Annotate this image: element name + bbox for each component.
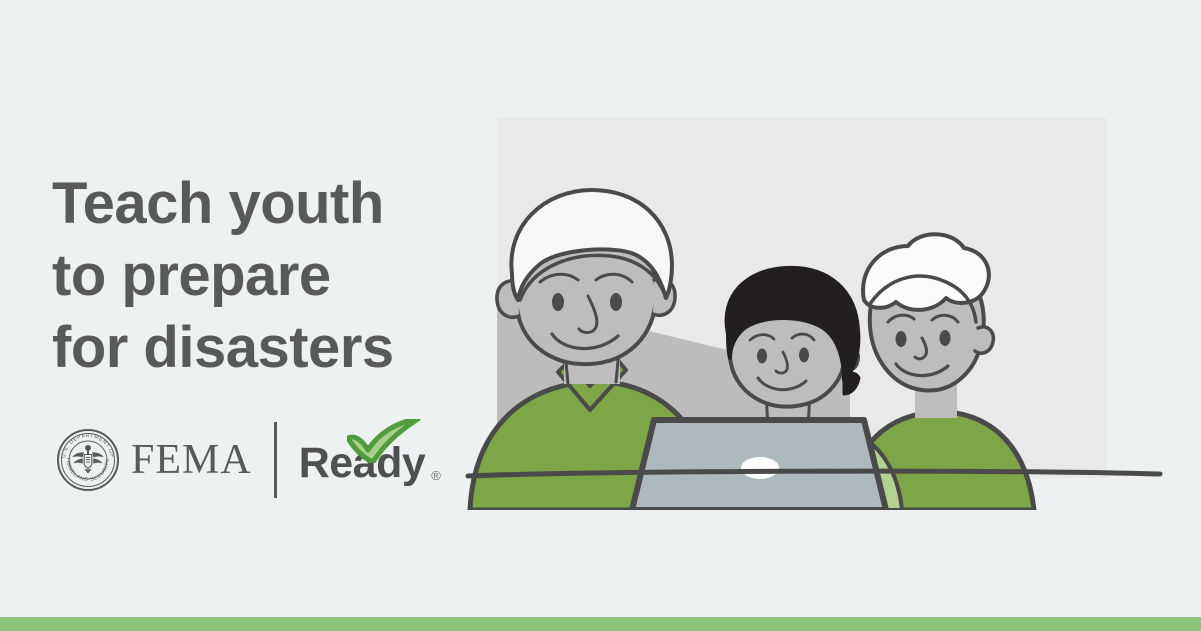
headline-line-1: Teach youth bbox=[52, 168, 472, 240]
headline-line-3: for disasters bbox=[52, 312, 472, 384]
page-title: Teach youth to prepare for disasters bbox=[52, 168, 472, 384]
family-at-laptop-illustration bbox=[440, 90, 1180, 510]
logo-divider bbox=[274, 422, 277, 498]
headline-line-2: to prepare bbox=[52, 240, 472, 312]
bottom-accent-bar bbox=[0, 617, 1201, 631]
laptop-logo-icon bbox=[741, 457, 779, 479]
fema-ready-logo-lockup: U.S. DEPARTMENT OF HOMELAND SECURITY bbox=[56, 421, 441, 499]
ready-checkmark-icon bbox=[347, 419, 427, 463]
poster-canvas: Teach youth to prepare for disasters U.S… bbox=[0, 0, 1201, 631]
ready-logo: Ready ® bbox=[299, 421, 441, 499]
registered-trademark-icon: ® bbox=[425, 468, 441, 499]
laptop bbox=[632, 420, 886, 510]
fema-wordmark: FEMA bbox=[131, 439, 252, 481]
dhs-seal-icon: U.S. DEPARTMENT OF HOMELAND SECURITY bbox=[56, 428, 120, 492]
